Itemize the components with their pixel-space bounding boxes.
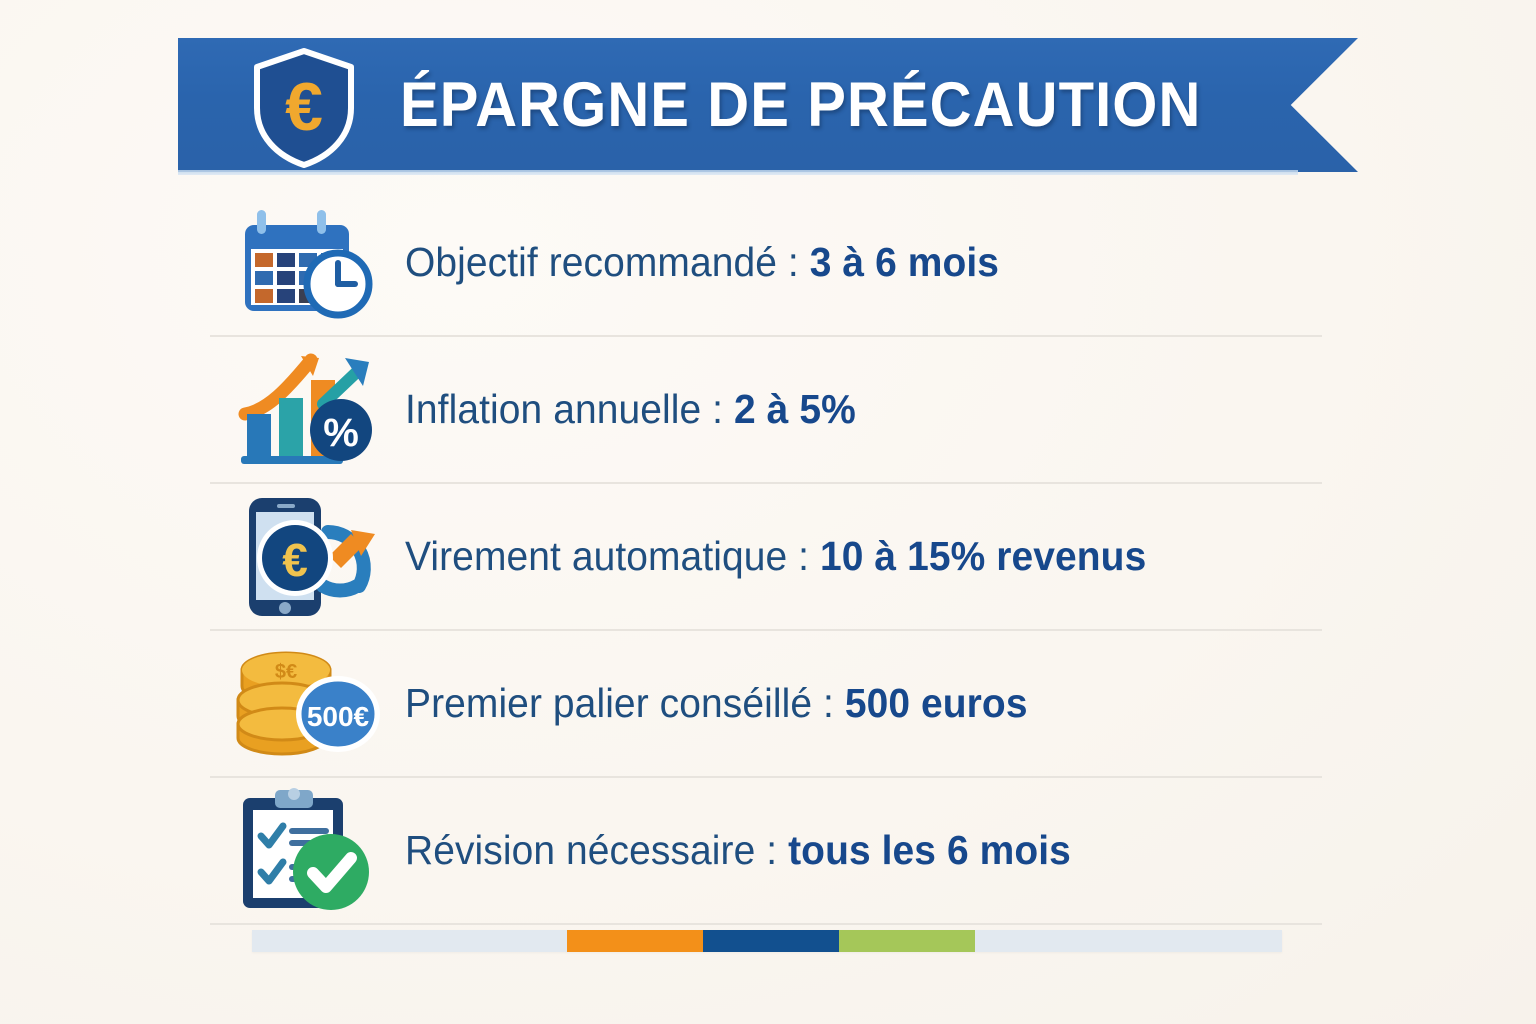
svg-text:€: € xyxy=(285,69,323,145)
fact-value: tous les 6 mois xyxy=(788,827,1071,873)
footer-progress-bar xyxy=(252,930,1282,952)
svg-text:€: € xyxy=(282,534,308,586)
footer-bar-track-left xyxy=(252,930,567,952)
footer-bar-segment-green xyxy=(839,930,975,952)
list-item[interactable]: % Inflation annuelle : 2 à 5% xyxy=(210,337,1322,484)
banner-underline xyxy=(178,170,1298,175)
fact-label: Objectif recommandé : xyxy=(405,239,810,285)
fact-value: 2 à 5% xyxy=(734,386,856,432)
fact-text: Premier palier conséillé : 500 euros xyxy=(405,680,1028,727)
footer-bar-segment-blue xyxy=(703,930,839,952)
shield-euro-icon: € xyxy=(246,46,362,170)
svg-text:$€: $€ xyxy=(275,661,297,683)
fact-text: Objectif recommandé : 3 à 6 mois xyxy=(405,239,999,286)
fact-value: 3 à 6 mois xyxy=(810,239,999,285)
list-item[interactable]: Objectif recommandé : 3 à 6 mois xyxy=(210,190,1322,337)
svg-text:%: % xyxy=(323,411,359,455)
fact-label: Premier palier conséillé : xyxy=(405,680,845,726)
smartphone-euro-transfer-icon: € xyxy=(233,494,383,619)
bar-chart-percent-icon: % xyxy=(233,352,383,467)
icon-slot: % xyxy=(210,347,405,472)
facts-list: Objectif recommandé : 3 à 6 mois % xyxy=(210,190,1322,925)
fact-label: Inflation annuelle : xyxy=(405,386,734,432)
calendar-clock-icon xyxy=(233,205,383,320)
infographic-canvas: € ÉPARGNE DE PRÉCAUTION xyxy=(0,0,1536,1024)
banner-title: ÉPARGNE DE PRÉCAUTION xyxy=(400,69,1201,141)
fact-text: Inflation annuelle : 2 à 5% xyxy=(405,386,856,433)
fact-label: Virement automatique : xyxy=(405,533,820,579)
icon-slot: € xyxy=(210,494,405,619)
footer-bar-segment-orange xyxy=(567,930,703,952)
header-banner: € ÉPARGNE DE PRÉCAUTION xyxy=(178,38,1358,172)
icon-slot xyxy=(210,788,405,913)
coins-500-euro-icon: $€ 500€ xyxy=(230,646,385,761)
fact-value: 10 à 15% revenus xyxy=(820,533,1146,579)
fact-value: 500 euros xyxy=(845,680,1028,726)
coin-badge-label: 500€ xyxy=(307,701,370,732)
fact-text: Virement automatique : 10 à 15% revenus xyxy=(405,533,1146,580)
fact-label: Révision nécessaire : xyxy=(405,827,788,873)
list-item[interactable]: Révision nécessaire : tous les 6 mois xyxy=(210,778,1322,925)
fact-text: Révision nécessaire : tous les 6 mois xyxy=(405,827,1071,874)
clipboard-check-icon xyxy=(233,788,383,913)
list-item[interactable]: € Virement automatique : 10 à 15% revenu… xyxy=(210,484,1322,631)
icon-slot xyxy=(210,200,405,325)
icon-slot: $€ 500€ xyxy=(210,641,405,766)
list-item[interactable]: $€ 500€ Premier palier conséil xyxy=(210,631,1322,778)
